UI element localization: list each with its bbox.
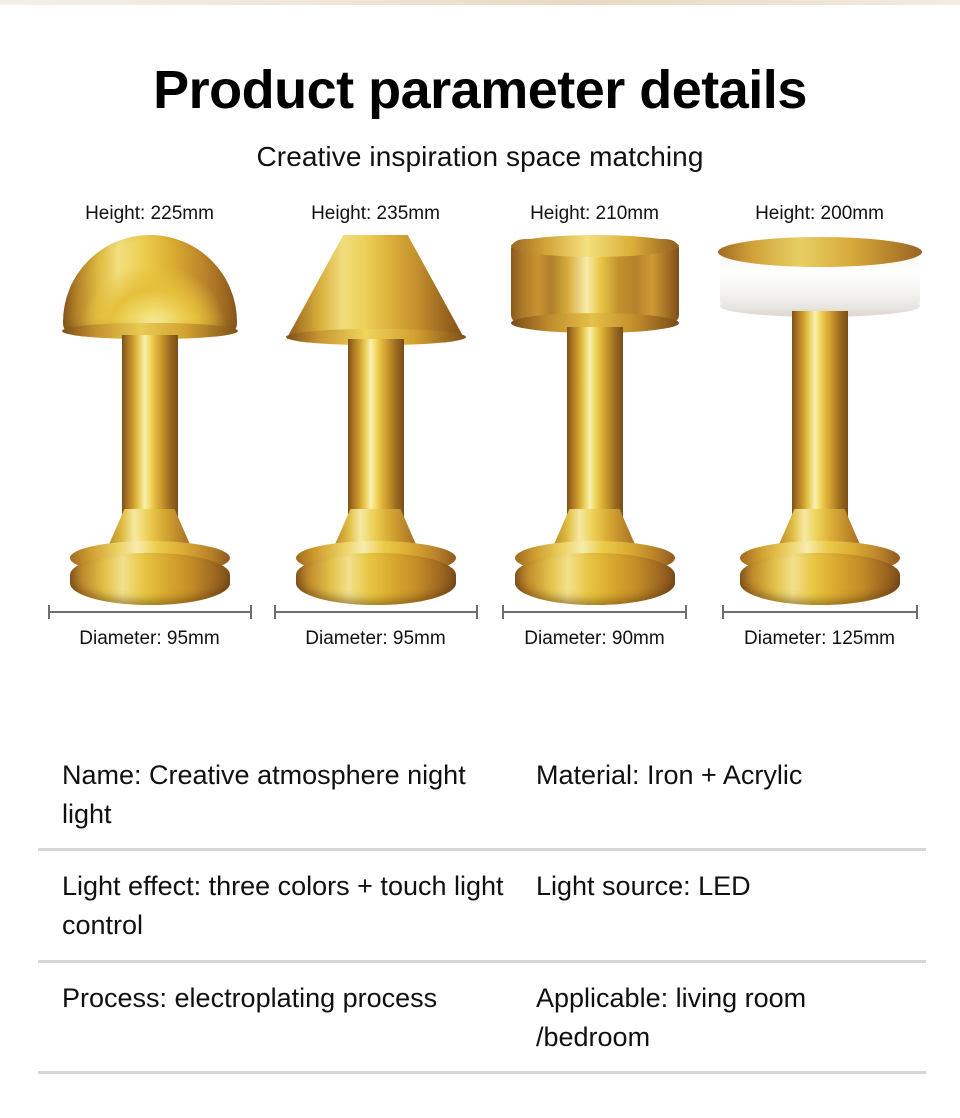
lamp-card-1: Height: 225mm Diameter: 95mm (42, 201, 257, 671)
spec-material: Material: Iron + Acrylic (512, 756, 926, 834)
drum-shade-top (511, 235, 679, 257)
top-accent-strip (0, 0, 960, 5)
page-title: Product parameter details (0, 62, 960, 119)
lamp-showcase: Height: 225mm Diameter: 95mm Height: 235… (0, 201, 960, 671)
spec-row: Name: Creative atmosphere night light Ma… (38, 752, 926, 848)
lamp-height-label-1: Height: 225mm (42, 201, 257, 227)
lamp-height-label-3: Height: 210mm (487, 201, 702, 227)
lamp-stem (567, 327, 623, 539)
lamp-diameter-label-2: Diameter: 95mm (268, 628, 483, 650)
spec-row: Light effect: three colors + touch light… (38, 848, 926, 959)
dimension-line (722, 611, 918, 613)
spec-table-bottom-rule (38, 1071, 926, 1074)
dimension-tick-right (250, 605, 252, 619)
dimension-tick-right (476, 605, 478, 619)
spec-name: Name: Creative atmosphere night light (38, 756, 512, 834)
acrylic-disc-gold-rim (718, 237, 922, 267)
lamp-illustration-cone (268, 235, 483, 605)
lamp-stem (792, 311, 848, 539)
lamp-base-disc (515, 553, 675, 605)
lamp-height-label-4: Height: 200mm (712, 201, 927, 227)
diameter-dimension-bar-2 (274, 605, 478, 619)
lamp-height-label-2: Height: 235mm (268, 201, 483, 227)
diameter-dimension-bar-3 (502, 605, 687, 619)
dimension-line (274, 611, 478, 613)
dimension-tick-right (916, 605, 918, 619)
lamp-diameter-label-1: Diameter: 95mm (42, 628, 257, 650)
lamp-card-2: Height: 235mm Diameter: 95mm (268, 201, 483, 671)
spec-light-effect: Light effect: three colors + touch light… (38, 867, 512, 945)
spec-applicable: Applicable: living room /bedroom (512, 979, 926, 1057)
lamp-illustration-drum (487, 235, 702, 605)
lamp-base-disc (296, 553, 456, 605)
header: Product parameter details Creative inspi… (0, 0, 960, 173)
dimension-tick-right (685, 605, 687, 619)
spec-row: Process: electroplating process Applicab… (38, 960, 926, 1071)
lamp-card-3: Height: 210mm Diameter: 90mm (487, 201, 702, 671)
lamp-diameter-label-3: Diameter: 90mm (487, 628, 702, 650)
lamp-illustration-acrylic-disc (712, 235, 927, 605)
lamp-card-4: Height: 200mm Diameter: 125mm (712, 201, 927, 671)
lamp-diameter-label-4: Diameter: 125mm (712, 628, 927, 650)
page-subtitle: Creative inspiration space matching (0, 141, 960, 173)
spec-light-source: Light source: LED (512, 867, 926, 945)
dome-shade (63, 235, 237, 335)
diameter-dimension-bar-1 (48, 605, 252, 619)
dimension-line (48, 611, 252, 613)
cone-shade (287, 235, 465, 339)
lamp-base-disc (740, 553, 900, 605)
lamp-base-disc (70, 553, 230, 605)
lamp-illustration-dome (42, 235, 257, 605)
spec-process: Process: electroplating process (38, 979, 512, 1057)
specification-table: Name: Creative atmosphere night light Ma… (38, 752, 926, 1074)
lamp-stem (122, 335, 178, 539)
diameter-dimension-bar-4 (722, 605, 918, 619)
dimension-line (502, 611, 687, 613)
